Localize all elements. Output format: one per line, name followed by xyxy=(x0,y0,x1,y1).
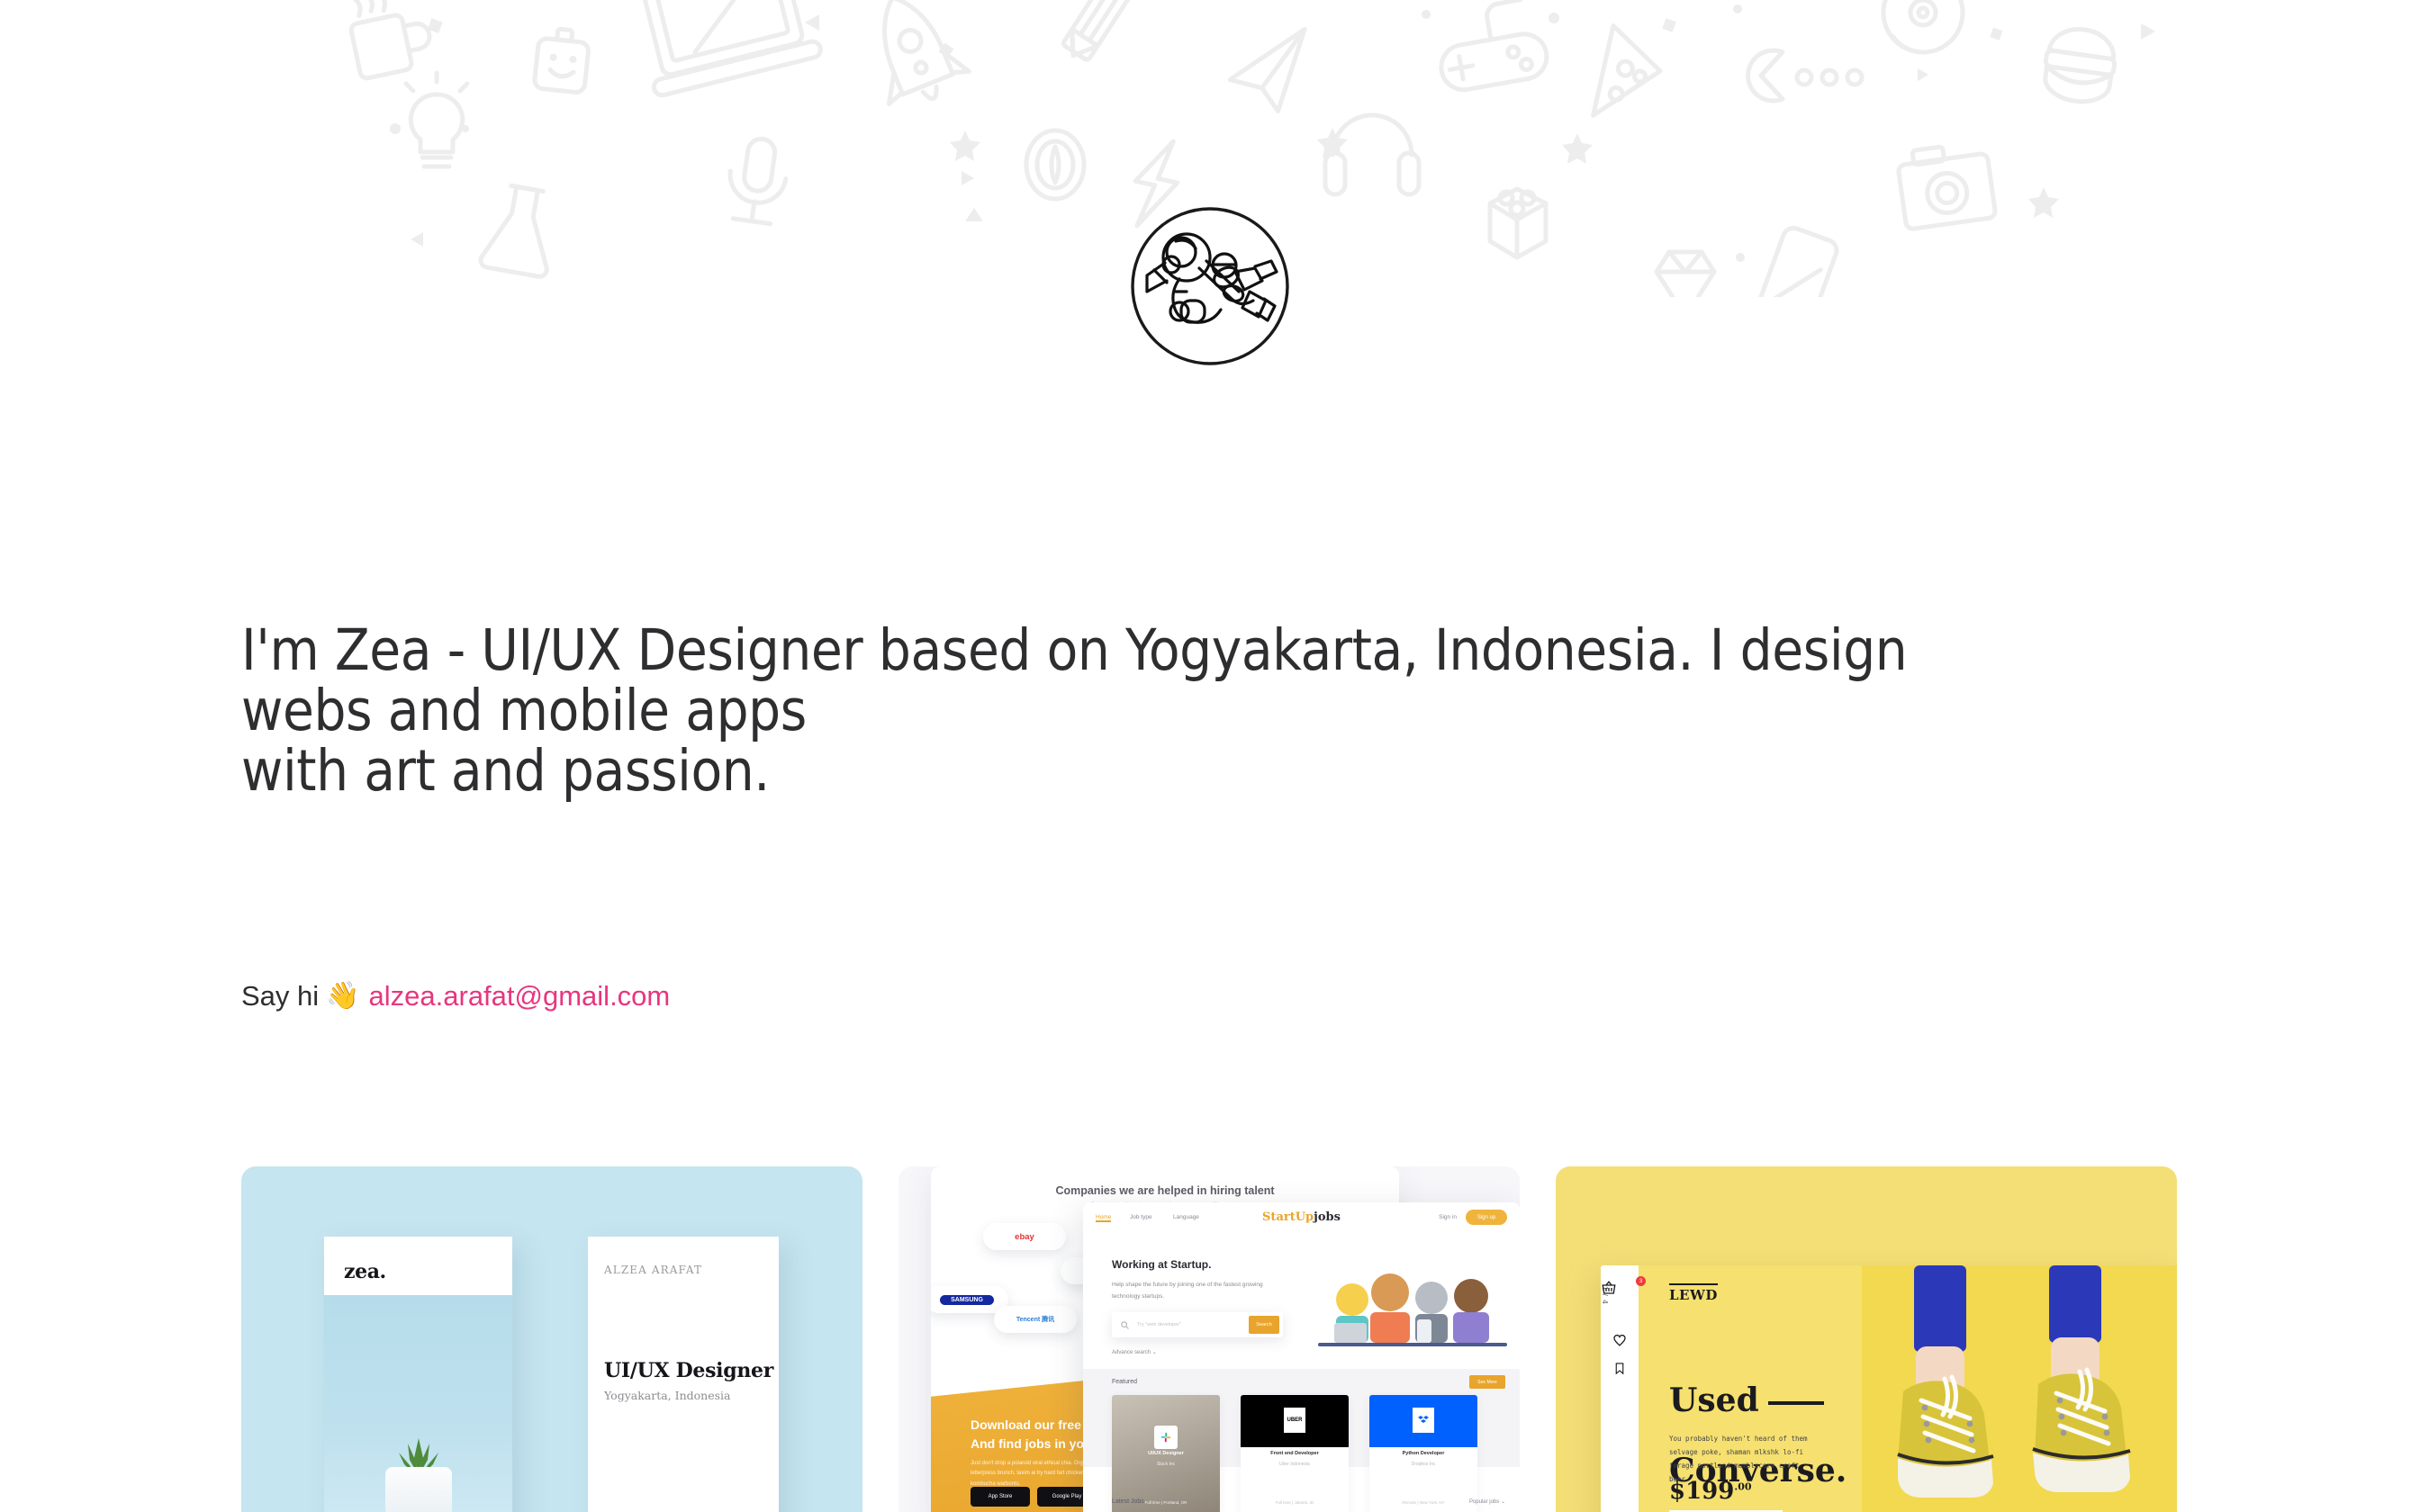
owner-location: Yogyakarta, Indonesia xyxy=(604,1389,730,1402)
pencil-icon xyxy=(1061,0,1133,64)
owner-role: UI/UX Designer xyxy=(604,1359,773,1382)
bookmark-glyph-icon xyxy=(1613,1361,1627,1376)
job-card[interactable]: UI/UX Designer Slack Inc Full time | Por… xyxy=(1112,1395,1220,1512)
astronaut-logo[interactable] xyxy=(1129,205,1291,367)
heart-icon xyxy=(1612,1332,1628,1347)
search-icon xyxy=(1121,1321,1129,1329)
job-title: Front end Developer xyxy=(1241,1451,1349,1456)
owner-name: ALZEA ARAFAT xyxy=(604,1264,702,1276)
startupjobs-home-page: Home Job type Language StartUpjobs Sign … xyxy=(1083,1202,1520,1512)
hero-title: Working at Startup. xyxy=(1112,1258,1211,1271)
wishlist-icon[interactable] xyxy=(1612,1332,1628,1352)
triangle-icon xyxy=(1918,68,1928,81)
square-icon xyxy=(1662,18,1675,31)
dot-icon xyxy=(1736,253,1745,262)
job-title: Python Developer xyxy=(1369,1451,1477,1456)
cart-icon[interactable]: 3 xyxy=(1601,1280,1639,1300)
triangle-icon xyxy=(805,14,819,31)
slack-icon xyxy=(1160,1431,1172,1444)
pacman-icon xyxy=(1748,50,1862,101)
companies-headline: Companies we are helped in hiring talent xyxy=(931,1184,1399,1197)
product-price: $199.00 xyxy=(1669,1478,1752,1505)
bookmark-icon[interactable] xyxy=(1613,1361,1627,1381)
project-cards: zea. ALZEA ARAFAT xyxy=(241,1166,2179,1512)
logo-ebay: ebay xyxy=(983,1223,1066,1250)
contact-line: Say hi 👋 alzea.arafat@gmail.com xyxy=(241,980,670,1012)
job-company: Slack Inc xyxy=(1112,1462,1220,1467)
portfolio-page: I'm Zea - UI/UX Designer based on Yogyak… xyxy=(0,0,2420,1512)
business-card-front: zea. xyxy=(324,1237,512,1512)
star-icon xyxy=(1317,128,1348,158)
say-hi-label: Say hi xyxy=(241,980,319,1012)
app-store-badge[interactable]: App Store xyxy=(971,1487,1030,1507)
dot-icon xyxy=(1733,4,1742,13)
logo-tencent: Tencent 腾讯 xyxy=(994,1306,1077,1333)
triangle-icon xyxy=(2141,23,2155,40)
paper-plane-icon xyxy=(1224,29,1315,117)
camera-icon xyxy=(1896,140,1996,229)
signup-button[interactable]: Sign up xyxy=(1466,1210,1507,1225)
job-company: Uber Indonesia xyxy=(1241,1462,1349,1467)
hero-section: I'm Zea - UI/UX Designer based on Yogyak… xyxy=(241,621,2042,801)
project-card-startupjobs[interactable]: Companies we are helped in hiring talent… xyxy=(898,1166,1520,1512)
headphones-icon xyxy=(1325,115,1419,194)
popular-jobs-filter[interactable]: Popular jobs ⌄ xyxy=(1469,1498,1505,1505)
lego-brick-icon xyxy=(1490,189,1546,257)
see-more-button[interactable]: See More xyxy=(1469,1375,1505,1389)
basket-icon xyxy=(1601,1280,1617,1296)
job-meta: Remote | New York, NY xyxy=(1369,1500,1477,1505)
product-side-rail: 3 1 / 4 xyxy=(1601,1265,1639,1512)
flask-icon xyxy=(480,183,560,277)
waving-hand-icon: 👋 xyxy=(326,983,359,1010)
cd-disc-icon xyxy=(1883,0,1963,52)
email-link[interactable]: alzea.arafat@gmail.com xyxy=(369,980,671,1012)
diamond-icon xyxy=(1657,252,1714,297)
nav-language[interactable]: Language xyxy=(1173,1214,1199,1220)
lewd-product-page: 3 1 / 4 LEW xyxy=(1601,1265,2177,1512)
sneakers-photo xyxy=(1862,1265,2177,1512)
store-brand: LEWD xyxy=(1669,1283,1718,1303)
cart-count-badge: 3 xyxy=(1636,1276,1646,1286)
dot-icon xyxy=(1549,13,1559,23)
star-icon xyxy=(1562,133,1593,164)
astronaut-icon xyxy=(1129,205,1291,367)
gamepad-icon xyxy=(1431,0,1549,94)
advance-search-toggle[interactable]: Advance search ⌄ xyxy=(1112,1349,1157,1355)
site-brand: StartUpjobs xyxy=(1262,1210,1341,1224)
nav-home[interactable]: Home xyxy=(1096,1214,1111,1222)
dropbox-logo xyxy=(1413,1408,1434,1433)
hero-subtitle: Help shape the future by joining one of … xyxy=(1112,1279,1283,1302)
site-nav: Home Job type Language StartUpjobs Sign … xyxy=(1083,1202,1520,1233)
coffee-mug-icon xyxy=(345,0,436,79)
job-company: Dropbox Inc xyxy=(1369,1462,1477,1467)
smartphone-icon xyxy=(1751,225,1840,297)
signin-link[interactable]: Sign in xyxy=(1439,1214,1457,1220)
square-icon xyxy=(1990,28,2002,40)
search-placeholder: Try "web developer" xyxy=(1137,1322,1181,1327)
square-icon xyxy=(939,43,954,58)
chevron-down-icon: ⌄ xyxy=(1152,1350,1157,1355)
project-card-lewd-store[interactable]: 3 1 / 4 LEW xyxy=(1556,1166,2177,1512)
lego-head-icon xyxy=(534,27,591,93)
dropbox-icon xyxy=(1418,1415,1429,1426)
search-button[interactable]: Search xyxy=(1249,1316,1279,1334)
laptop-icon xyxy=(628,0,822,97)
star-icon xyxy=(2028,187,2059,218)
job-card[interactable]: Python Developer Dropbox Inc Remote | Ne… xyxy=(1369,1395,1477,1512)
lightbulb-icon xyxy=(390,73,469,166)
burger-icon xyxy=(2041,25,2118,106)
triangle-icon xyxy=(962,171,974,185)
featured-label: Featured xyxy=(1112,1379,1137,1385)
brand-logo-text: zea. xyxy=(344,1260,386,1283)
star-icon xyxy=(950,130,980,161)
nav-job-type[interactable]: Job type xyxy=(1130,1214,1152,1220)
job-search-bar[interactable]: Try "web developer" Search xyxy=(1112,1312,1283,1337)
rocket-icon xyxy=(853,0,973,114)
team-illustration xyxy=(1318,1273,1507,1346)
square-icon xyxy=(428,18,443,33)
pizza-slice-icon xyxy=(1588,26,1669,130)
slack-logo xyxy=(1154,1426,1178,1449)
chevron-down-icon: ⌄ xyxy=(1501,1499,1505,1505)
triangle-icon xyxy=(965,208,983,221)
business-card-back: ALZEA ARAFAT UI/UX Designer Yogyakarta, … xyxy=(588,1237,779,1512)
dot-icon xyxy=(1422,10,1431,19)
latest-jobs-label: Latest Jobs xyxy=(1112,1498,1144,1505)
plant-pot xyxy=(385,1467,452,1512)
job-title: UI/UX Designer xyxy=(1112,1451,1220,1456)
logo-samsung: SAMSUNG xyxy=(931,1286,1008,1313)
plant-photo xyxy=(324,1295,512,1512)
uber-logo: UBER xyxy=(1284,1408,1305,1433)
microphone-icon xyxy=(724,135,790,225)
compass-icon xyxy=(1026,130,1084,199)
page-title: I'm Zea - UI/UX Designer based on Yogyak… xyxy=(241,621,2042,801)
job-card[interactable]: UBER Front end Developer Uber Indonesia … xyxy=(1241,1395,1349,1512)
triangle-icon xyxy=(411,232,423,247)
converse-product-photo xyxy=(1862,1265,2177,1512)
title-rule xyxy=(1768,1401,1824,1405)
project-card-personal-branding[interactable]: zea. ALZEA ARAFAT xyxy=(241,1166,862,1512)
job-meta: Full time | Jakarta, ID xyxy=(1241,1500,1349,1505)
